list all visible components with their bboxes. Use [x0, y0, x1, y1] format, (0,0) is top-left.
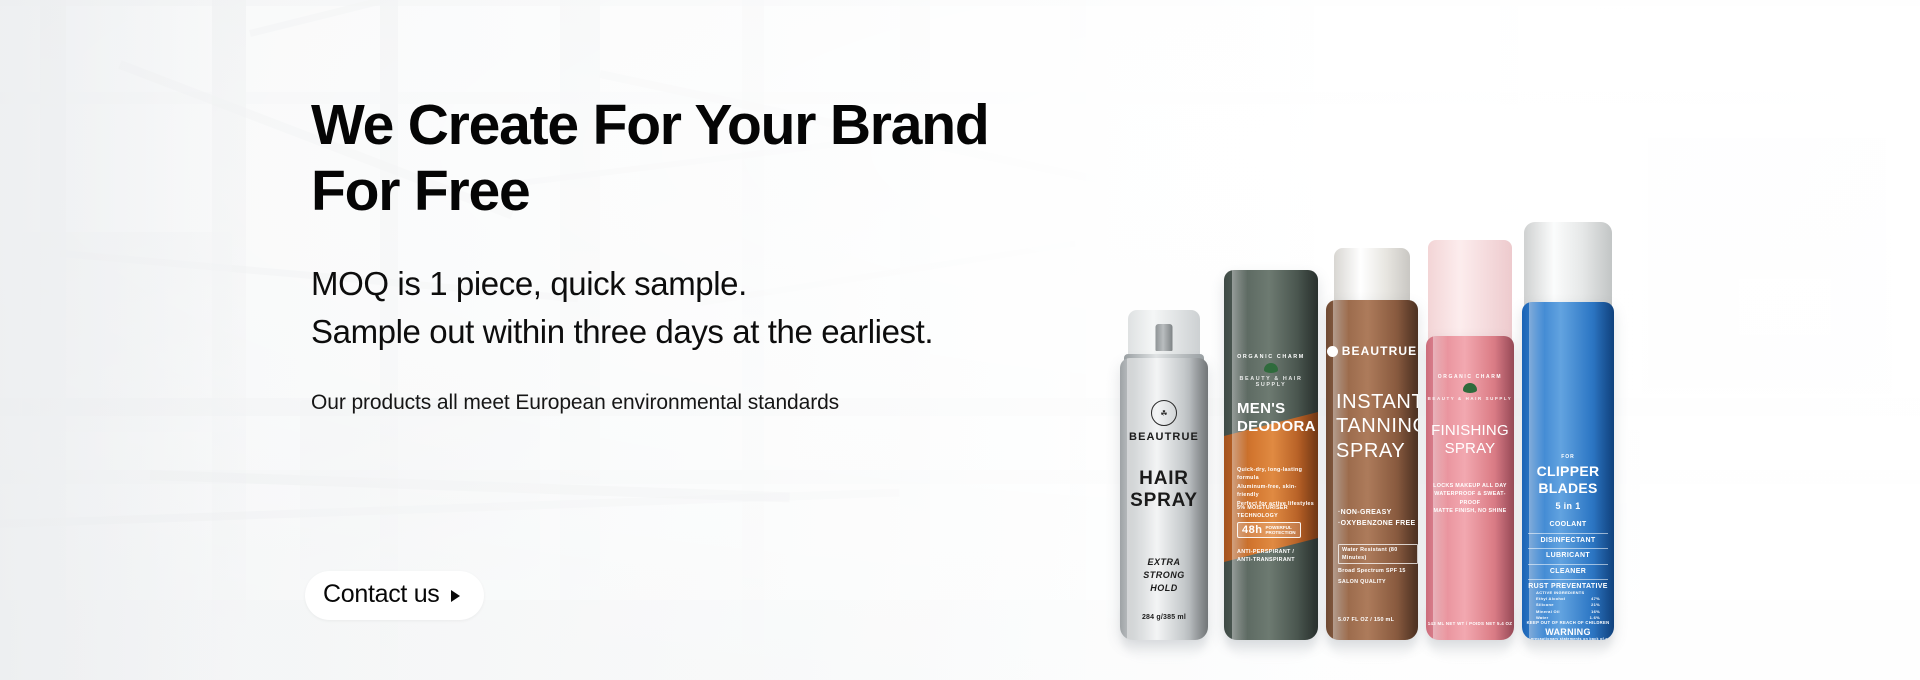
product-claim: EXTRA	[1120, 556, 1208, 569]
product-brand: BEAUTRUE	[1342, 344, 1417, 358]
bottle-body: ORGANIC CHARM BEAUTY & HAIR SUPPLY MEN'S…	[1224, 270, 1318, 640]
product-claim: STRONG	[1120, 569, 1208, 582]
product-claim: ·NON-GREASY	[1338, 508, 1418, 519]
product-claim: Quick-dry, long-lasting formula	[1237, 466, 1318, 483]
product-volume: 143 ML NET WT / POIDS NET 5.4 OZ	[1428, 621, 1512, 626]
beautrue-dot-icon	[1327, 346, 1338, 357]
hero-copy: We Create For Your Brand For Free MOQ is…	[311, 92, 1131, 418]
product-claim: LOCKS MAKEUP ALL DAY	[1426, 482, 1514, 490]
product-brand-sub: BEAUTY & HAIR SUPPLY	[1224, 376, 1318, 388]
product-name-line-2: DEODORA	[1237, 418, 1318, 436]
leaf-icon	[1463, 383, 1477, 393]
product-name-line-1: MEN'S	[1237, 400, 1318, 418]
product-spf: Broad Spectrum SPF 15	[1338, 567, 1418, 575]
product-bottle-clipper-blades[interactable]: FOR CLIPPER BLADES 5 in 1 COOLANT DISINF…	[1522, 222, 1614, 640]
hero-note: Our products all meet European environme…	[311, 388, 1131, 417]
warning-sub: See precautionary statements on back of …	[1522, 637, 1614, 640]
product-claim: WATERPROOF & SWEAT-PROOF	[1426, 490, 1514, 507]
bottle-cap	[1524, 222, 1612, 308]
bottle-body: ☘ BEAUTRUE HAIR SPRAY EXTRA STRONG HOLD …	[1120, 358, 1208, 640]
product-footer-1: ANTI-PERSPIRANT /	[1237, 548, 1318, 556]
product-brand-sub: BEAUTY & HAIR SUPPLY	[1426, 396, 1514, 401]
bottle-body: ORGANIC CHARM BEAUTY & HAIR SUPPLY FINIS…	[1426, 336, 1514, 640]
product-name-line-2: SPRAY	[1120, 490, 1208, 512]
product-claim: ·OXYBENZONE FREE	[1338, 519, 1418, 530]
product-volume: 5.07 FL OZ / 150 mL	[1338, 617, 1394, 623]
product-name-line-2: SPRAY	[1426, 440, 1514, 458]
product-name-line-2: BLADES	[1522, 480, 1614, 497]
product-brand: BEAUTRUE	[1120, 431, 1208, 443]
subtitle-line-1: MOQ is 1 piece, quick sample.	[311, 260, 1131, 308]
product-name-line-1: CLIPPER	[1522, 463, 1614, 480]
product-claim: LUBRICANT	[1522, 551, 1614, 562]
headline-line-2: For Free	[311, 158, 1131, 224]
bottle-cap	[1428, 240, 1512, 346]
page-title: We Create For Your Brand For Free	[311, 92, 1131, 224]
warning-title: WARNING	[1522, 627, 1614, 638]
contact-us-label: Contact us	[323, 580, 440, 609]
product-claim: Aluminum-free, skin-friendly	[1237, 483, 1318, 500]
badge-value: 48h	[1242, 524, 1262, 536]
product-claim: COOLANT	[1522, 520, 1614, 531]
product-bottle-hair-spray[interactable]: ☘ BEAUTRUE HAIR SPRAY EXTRA STRONG HOLD …	[1120, 310, 1208, 640]
product-tech-claim: 5% MOISTURISER TECHNOLOGY	[1237, 504, 1318, 521]
product-claim: DISINFECTANT	[1522, 536, 1614, 547]
product-name-line-1: INSTANT	[1336, 390, 1418, 414]
product-lineup: ☘ BEAUTRUE HAIR SPRAY EXTRA STRONG HOLD …	[1120, 190, 1680, 640]
background-left-fade	[0, 0, 240, 680]
badge-text-2: PROTECTION	[1265, 530, 1295, 535]
beautrue-logo-icon: ☘	[1151, 400, 1177, 426]
product-bottle-tanning-spray[interactable]: BEAUTRUE INSTANT TANNING SPRAY ·NON-GREA…	[1326, 248, 1418, 640]
product-name-line-3: SPRAY	[1336, 439, 1418, 463]
product-claim: MATTE FINISH, NO SHINE	[1426, 507, 1514, 515]
bottle-body: FOR CLIPPER BLADES 5 in 1 COOLANT DISINF…	[1522, 302, 1614, 640]
product-claim: CLEANER	[1522, 567, 1614, 578]
product-volume: 284 g/385 ml	[1142, 614, 1186, 621]
product-quality: SALON QUALITY	[1338, 578, 1418, 586]
bottle-cap	[1334, 248, 1410, 308]
leaf-icon	[1264, 363, 1278, 373]
product-footer-2: ANTI-TRANSPIRANT	[1237, 556, 1318, 564]
contact-us-button[interactable]: Contact us	[305, 571, 484, 620]
protection-badge: 48h POWERFUL PROTECTION	[1237, 522, 1301, 538]
warning-head: KEEP OUT OF REACH OF CHILDREN	[1522, 620, 1614, 627]
product-claim: HOLD	[1120, 582, 1208, 595]
hero-subtitle: MOQ is 1 piece, quick sample. Sample out…	[311, 260, 1131, 355]
product-name-line-2: TANNING	[1336, 414, 1418, 438]
product-bottle-mens-deodorant[interactable]: ORGANIC CHARM BEAUTY & HAIR SUPPLY MEN'S…	[1224, 270, 1318, 640]
product-brand: ORGANIC CHARM	[1224, 354, 1318, 360]
subtitle-line-2: Sample out within three days at the earl…	[311, 308, 1131, 356]
play-arrow-icon	[451, 590, 460, 602]
product-name-line-1: HAIR	[1120, 468, 1208, 490]
product-boxed-claim: Water Resistant (80 Minutes)	[1338, 544, 1418, 564]
product-bottle-finishing-spray[interactable]: ORGANIC CHARM BEAUTY & HAIR SUPPLY FINIS…	[1426, 240, 1514, 640]
bottle-body: BEAUTRUE INSTANT TANNING SPRAY ·NON-GREA…	[1326, 300, 1418, 640]
product-brand: FOR	[1522, 454, 1614, 462]
product-name-line-1: FINISHING	[1426, 422, 1514, 440]
headline-line-1: We Create For Your Brand	[311, 92, 1131, 158]
product-variant: 5 in 1	[1522, 500, 1614, 514]
hero-banner: We Create For Your Brand For Free MOQ is…	[0, 0, 1920, 680]
spray-nozzle-icon	[1156, 324, 1173, 351]
product-brand: ORGANIC CHARM	[1426, 374, 1514, 380]
